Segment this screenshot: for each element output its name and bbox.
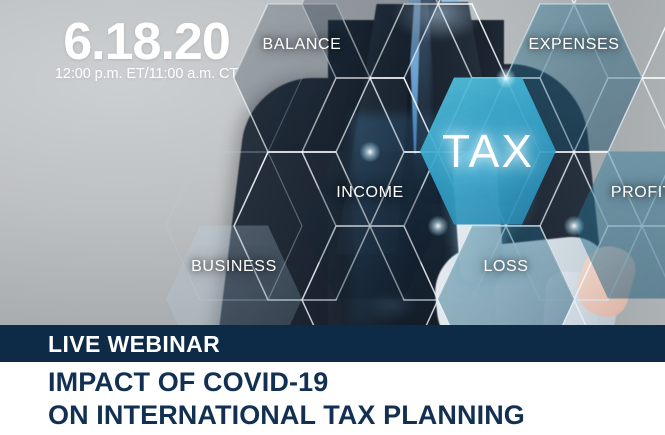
hexagon-label-loss: LOSS <box>483 258 528 276</box>
hexagon-label-business: BUSINESS <box>191 258 277 276</box>
webinar-promo-banner: BALANCE EXPENSES TAX INCOME PROFIT BUSIN… <box>0 0 665 435</box>
webinar-date: 6.18.20 <box>44 12 249 72</box>
webinar-time: 12:00 p.m. ET/11:00 a.m. CT <box>44 66 249 82</box>
live-webinar-kicker: LIVE WEBINAR <box>48 331 220 358</box>
hexagon-label-expenses: EXPENSES <box>528 36 619 54</box>
hexagon-label-tax: TAX <box>442 124 534 178</box>
hexagon-label-profit: PROFIT <box>611 184 665 202</box>
webinar-title-line1: IMPACT OF COVID-19 <box>48 367 328 397</box>
webinar-title: IMPACT OF COVID-19 ON INTERNATIONAL TAX … <box>48 366 525 432</box>
hexagon-label-income: INCOME <box>336 184 404 202</box>
webinar-title-line2: ON INTERNATIONAL TAX PLANNING <box>48 399 525 432</box>
hexagon-label-balance: BALANCE <box>263 36 342 54</box>
